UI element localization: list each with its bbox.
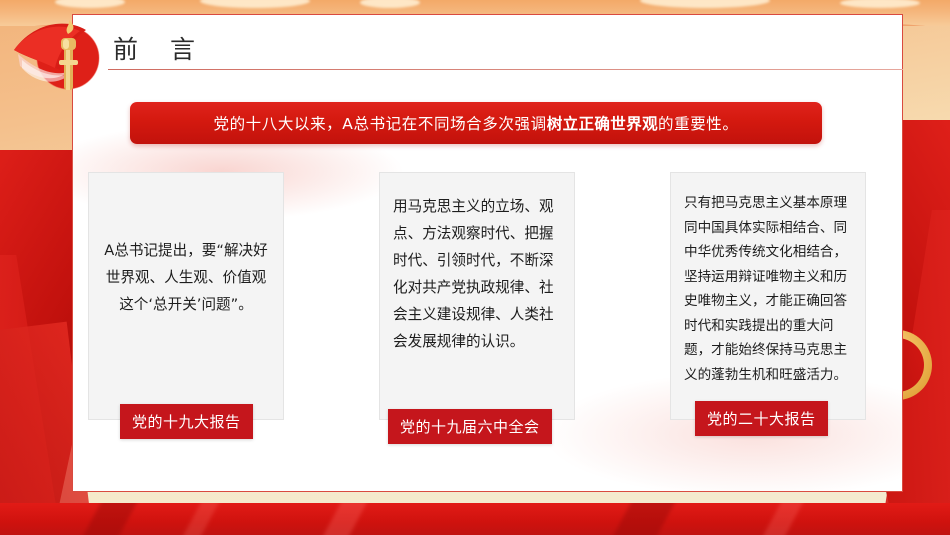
headline-text-after: 的重要性。 (658, 115, 739, 133)
cloud-icon (360, 0, 420, 8)
quote-card[interactable]: 只有把马克思主义基本原理同中国具体实际相结合、同中华优秀传统文化相结合，坚持运用… (670, 172, 866, 420)
party-flag-torch-emblem (8, 14, 116, 106)
band-fold (604, 503, 680, 535)
quote-card-source-badge[interactable]: 党的十九大报告 (120, 404, 253, 439)
quote-card-body: 只有把马克思主义基本原理同中国具体实际相结合、同中华优秀传统文化相结合，坚持运用… (671, 179, 865, 387)
quote-card-list: A总书记提出，要“解决好世界观、人生观、价值观这个‘总开关’问题”。 党的十九大… (88, 172, 866, 420)
cloud-icon (640, 0, 770, 8)
page-title: 前 言 (113, 30, 207, 66)
headline-text-highlight: 树立正确世界观 (547, 115, 658, 133)
quote-card-source-badge[interactable]: 党的十九届六中全会 (388, 409, 552, 444)
band-fold (314, 503, 372, 535)
band-fold (174, 503, 224, 535)
headline-text-before: 党的十八大以来，A总书记在不同场合多次强调 (213, 115, 546, 133)
quote-card[interactable]: 用马克思主义的立场、观点、方法观察时代、把握时代、引领时代，不断深化对共产党执政… (379, 172, 575, 420)
quote-card-body: 用马克思主义的立场、观点、方法观察时代、把握时代、引领时代，不断深化对共产党执政… (380, 181, 574, 355)
cloud-icon (200, 0, 310, 8)
band-fold (74, 503, 142, 535)
headline-banner: 党的十八大以来，A总书记在不同场合多次强调树立正确世界观的重要性。 (130, 102, 822, 144)
bottom-red-band (0, 503, 950, 535)
quote-card-source-badge[interactable]: 党的二十大报告 (695, 401, 828, 436)
headline-banner-text: 党的十八大以来，A总书记在不同场合多次强调树立正确世界观的重要性。 (213, 112, 738, 134)
quote-card[interactable]: A总书记提出，要“解决好世界观、人生观、价值观这个‘总开关’问题”。 党的十九大… (88, 172, 284, 420)
slide-root: 前 言 党的十八大以来，A总书记在不同场合多次强调树立正确世界观的重要性。 A总… (0, 0, 950, 535)
quote-card-body: A总书记提出，要“解决好世界观、人生观、价值观这个‘总开关’问题”。 (89, 225, 283, 318)
title-divider (108, 69, 903, 70)
band-fold (754, 503, 808, 535)
